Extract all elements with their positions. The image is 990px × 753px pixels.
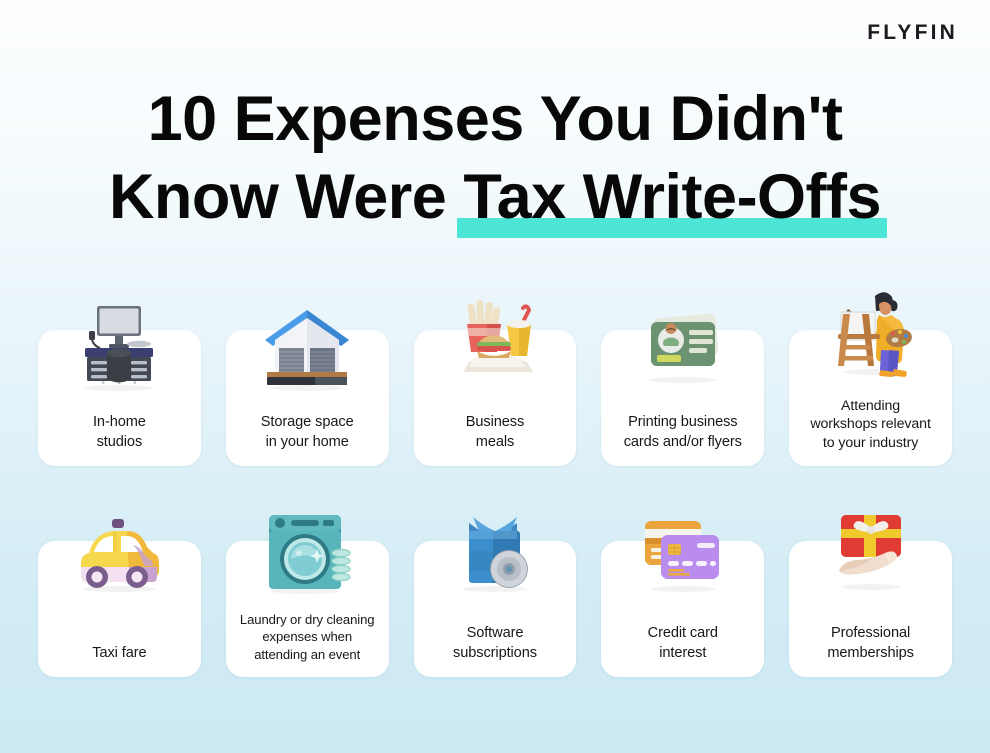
page-title: 10 Expenses You Didn't Know Were Tax Wri… (0, 80, 990, 236)
card-label-line-1: Taxi fare (92, 645, 146, 661)
card-label-line-3: attending an event (254, 647, 360, 662)
card-label: Printing business cards and/or flyers (607, 413, 759, 452)
card-label-line-2: workshops relevant (810, 416, 930, 432)
card-label-line-1: Professional (831, 625, 910, 641)
card-label-line-2: interest (659, 645, 706, 661)
fast-food-meal-icon (443, 286, 547, 390)
card-label: Business meals (419, 413, 571, 452)
card-label: Taxi fare (43, 644, 195, 663)
expense-card-printing-business-cards[interactable]: Printing business cards and/or flyers (601, 330, 764, 466)
card-label-line-2: meals (476, 434, 514, 450)
card-label-line-1: Attending (841, 398, 900, 414)
painter-easel-icon (819, 274, 923, 378)
card-label-line-1: Credit card (648, 625, 718, 641)
card-label-line-2: in your home (266, 434, 349, 450)
card-label-line-1: Printing business (628, 414, 737, 430)
card-label: In-home studios (43, 413, 195, 452)
expense-card-credit-card-interest[interactable]: Credit card interest (601, 541, 764, 677)
card-label: Storage space in your home (231, 413, 383, 452)
title-highlight: Tax Write-Offs (463, 158, 881, 236)
card-label-line-3: to your industry (823, 435, 918, 451)
expense-card-storage-space[interactable]: Storage space in your home (226, 330, 389, 466)
expense-card-grid: In-home studios (38, 330, 952, 677)
card-label-line-2: memberships (827, 645, 914, 661)
card-label-line-2: subscriptions (453, 645, 537, 661)
credit-cards-icon (631, 503, 735, 607)
card-label-line-1: Software (467, 625, 524, 641)
card-label: Laundry or dry cleaning expenses when at… (231, 611, 383, 663)
card-label-line-2: expenses when (262, 629, 352, 644)
expense-card-professional-memberships[interactable]: Professional memberships (789, 541, 952, 677)
taxi-car-icon (67, 505, 171, 609)
card-label-line-2: cards and/or flyers (624, 434, 742, 450)
expense-card-software-subscriptions[interactable]: Software subscriptions (414, 541, 577, 677)
washing-machine-icon (255, 501, 359, 605)
title-line-2: Know Were Tax Write-Offs (0, 158, 990, 236)
card-label-line-2: studios (97, 434, 143, 450)
card-label-line-1: Business (466, 414, 524, 430)
expense-card-taxi-fare[interactable]: Taxi fare (38, 541, 201, 677)
card-label-line-1: Storage space (261, 414, 354, 430)
card-label: Attending workshops relevant to your ind… (795, 397, 947, 452)
expense-card-business-meals[interactable]: Business meals (414, 330, 577, 466)
card-label-line-1: In-home (93, 414, 146, 430)
card-label-line-1: Laundry or dry cleaning (240, 612, 375, 627)
expense-card-attending-workshops[interactable]: Attending workshops relevant to your ind… (789, 330, 952, 466)
card-label: Software subscriptions (419, 624, 571, 663)
card-row-2: Taxi fare (38, 541, 952, 677)
flyfin-logo: FLYFIN (867, 21, 958, 45)
business-card-icon (631, 294, 735, 398)
gift-in-hand-icon (819, 499, 923, 603)
card-label: Credit card interest (607, 624, 759, 663)
card-label: Professional memberships (795, 624, 947, 663)
software-box-disc-icon (443, 499, 547, 603)
card-row-1: In-home studios (38, 330, 952, 466)
title-line-2-plain: Know Were (109, 162, 463, 232)
expense-card-laundry-dry-cleaning[interactable]: Laundry or dry cleaning expenses when at… (226, 541, 389, 677)
title-line-1: 10 Expenses You Didn't (0, 80, 990, 158)
storage-unit-icon (255, 296, 359, 400)
expense-card-in-home-studios[interactable]: In-home studios (38, 330, 201, 466)
home-office-desk-icon (67, 292, 171, 396)
